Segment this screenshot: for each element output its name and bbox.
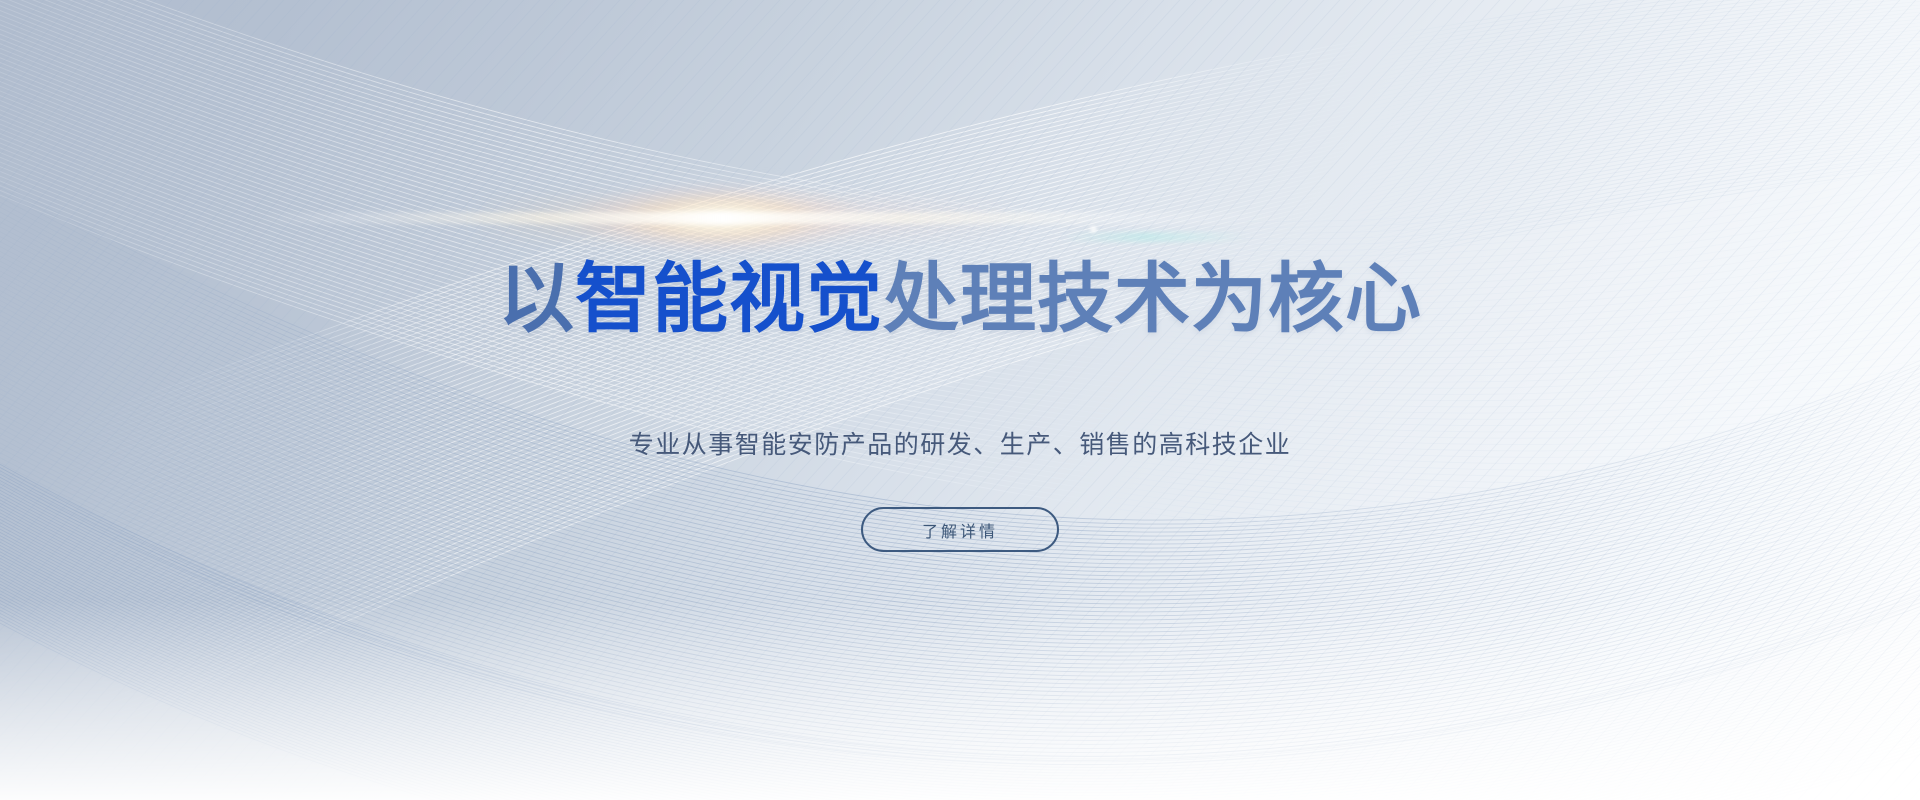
headline-segment-b: 智能视觉	[575, 257, 883, 342]
headline-segment-a: 以	[498, 257, 575, 342]
hero-headline: 以智能视觉处理技术为核心	[498, 262, 1422, 338]
hero-banner: 以智能视觉处理技术为核心 专业从事智能安防产品的研发、生产、销售的高科技企业 了…	[0, 0, 1920, 800]
learn-more-button[interactable]: 了解详情	[861, 507, 1059, 552]
headline-segment-c: 处理技术为核心	[883, 257, 1422, 342]
hero-content: 以智能视觉处理技术为核心 专业从事智能安防产品的研发、生产、销售的高科技企业 了…	[0, 0, 1920, 800]
hero-subtitle: 专业从事智能安防产品的研发、生产、销售的高科技企业	[629, 425, 1292, 461]
